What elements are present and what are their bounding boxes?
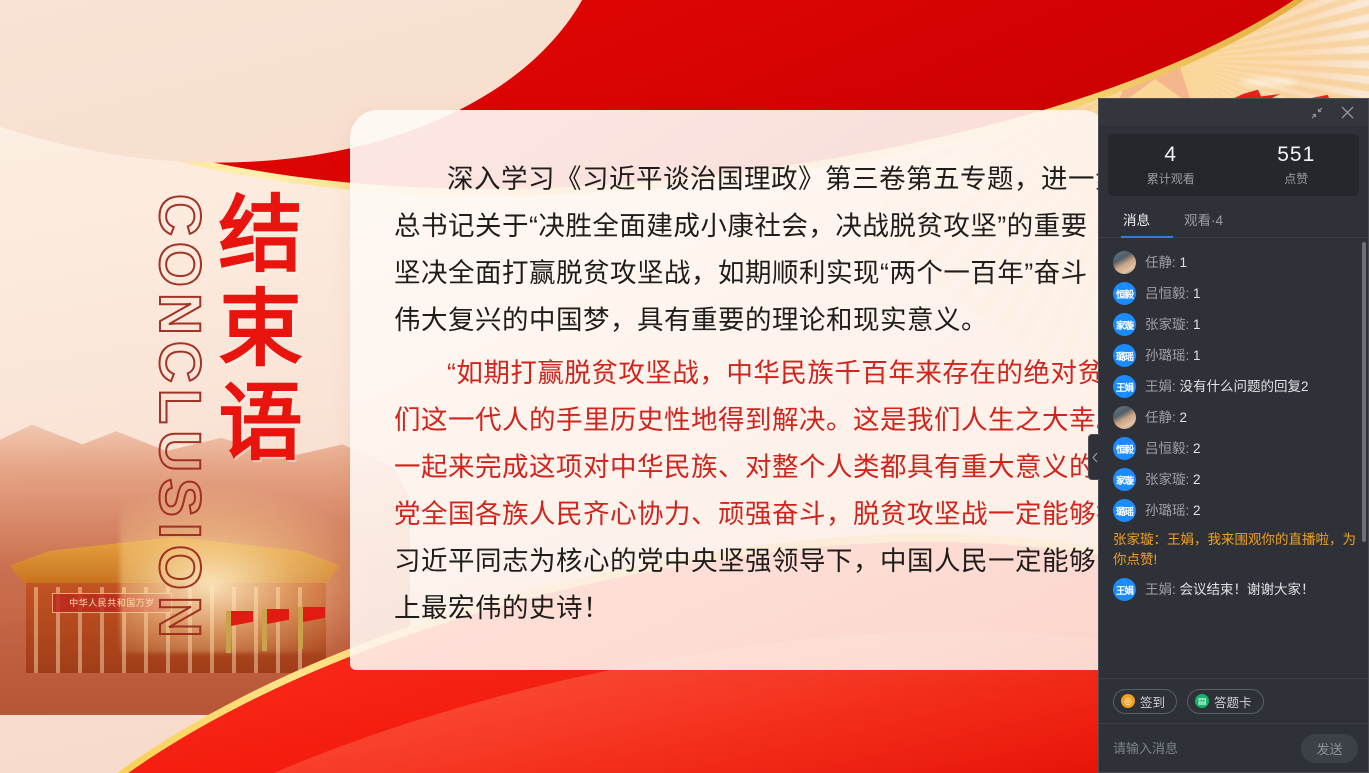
- check-in-label: 签到: [1140, 692, 1165, 711]
- paragraph-2-line: 党全国各族人民齐心协力、顽强奋斗，脱贫攻坚战一定能够打: [394, 491, 1100, 538]
- list-item: 家璇 张家璇: 2: [1099, 464, 1368, 495]
- avatar: 家璇: [1113, 313, 1136, 336]
- collapse-arrow-icon: [1310, 106, 1324, 120]
- system-message: 张家璇：王娟，我来围观你的直播啦，为你点赞!: [1099, 526, 1368, 574]
- message-text: 王娟: 会议结束！谢谢大家！: [1145, 580, 1315, 599]
- list-item: 王娟 王娟: 会议结束！谢谢大家！: [1099, 574, 1368, 605]
- panel-titlebar: [1099, 99, 1368, 126]
- list-item: 家璇 张家璇: 1: [1099, 309, 1368, 340]
- slide-body-text: 深入学习《习近平谈治国理政》第三卷第五专题，进一步 总书记关于“决胜全面建成小康…: [394, 156, 1100, 638]
- paragraph-2-line: 习近平同志为核心的党中央坚强领导下，中国人民一定能够写: [394, 538, 1100, 585]
- list-item: 任静: 1: [1099, 247, 1368, 278]
- avatar: 王娟: [1113, 578, 1136, 601]
- avatar: [1113, 251, 1136, 274]
- stats-bar: 4 累计观看 551 点赞: [1108, 134, 1359, 196]
- list-item: 恒毅 吕恒毅: 2: [1099, 433, 1368, 464]
- paragraph-2-line: “如期打赢脱贫攻坚战，中华民族千百年来存在的绝对贫: [394, 350, 1100, 397]
- screen: 中华人民共和国万岁 结束语 CONCLUSION 深入学习《习近平谈治国理政》第…: [0, 0, 1369, 773]
- panel-tabs: 消息 观看·4: [1099, 200, 1368, 238]
- list-item: 王娟 王娟: 没有什么问题的回复2: [1099, 371, 1368, 402]
- stat-value: 4: [1108, 143, 1234, 167]
- list-item: 恒毅 吕恒毅: 1: [1099, 278, 1368, 309]
- list-item: 璐瑶 孙璐瑶: 1: [1099, 340, 1368, 371]
- live-chat-panel: 4 累计观看 551 点赞 消息 观看·4 任静: 1 恒毅 吕恒毅: 1: [1098, 98, 1369, 773]
- paragraph-1-line: 坚决全面打赢脱贫攻坚战，如期顺利实现“两个一百年”奋斗: [394, 250, 1100, 297]
- avatar: 家璇: [1113, 468, 1136, 491]
- message-input[interactable]: [1113, 741, 1301, 756]
- close-button[interactable]: [1339, 104, 1356, 121]
- paragraph-2-line: 们这一代人的手里历史性地得到解决。这是我们人生之大幸。: [394, 397, 1100, 444]
- chevron-left-icon: [1092, 452, 1098, 463]
- message-text: 孙璐瑶: 2: [1145, 501, 1201, 520]
- stat-likes: 551 点赞: [1234, 143, 1360, 187]
- message-text: 孙璐瑶: 1: [1145, 346, 1201, 365]
- cloud-decoration: [1240, 78, 1298, 86]
- message-composer: 发送: [1099, 723, 1368, 772]
- paragraph-1-line: 深入学习《习近平谈治国理政》第三卷第五专题，进一步: [394, 156, 1100, 203]
- slide-text-card: 深入学习《习近平谈治国理政》第三卷第五专题，进一步 总书记关于“决胜全面建成小康…: [350, 110, 1110, 670]
- send-button[interactable]: 发送: [1301, 734, 1358, 763]
- stat-label: 点赞: [1234, 170, 1360, 187]
- avatar: 恒毅: [1113, 437, 1136, 460]
- message-text: 张家璇: 2: [1145, 470, 1201, 489]
- avatar: 王娟: [1113, 375, 1136, 398]
- message-text: 张家璇: 1: [1145, 315, 1201, 334]
- avatar: 恒毅: [1113, 282, 1136, 305]
- minimize-button[interactable]: [1308, 104, 1325, 121]
- message-text: 任静: 2: [1145, 408, 1187, 427]
- answer-card-button[interactable]: ▤ 答题卡: [1187, 689, 1264, 714]
- stat-value: 551: [1234, 143, 1360, 167]
- check-in-icon: ◎: [1121, 694, 1135, 708]
- avatar: 璐瑶: [1113, 344, 1136, 367]
- message-text: 吕恒毅: 2: [1145, 439, 1201, 458]
- avatar: 璐瑶: [1113, 499, 1136, 522]
- tab-viewers[interactable]: 观看·4: [1184, 209, 1223, 238]
- slide-vertical-title: 结束语 CONCLUSION: [150, 190, 296, 644]
- message-text: 王娟: 没有什么问题的回复2: [1145, 377, 1309, 396]
- slide-title-cn: 结束语: [212, 190, 296, 472]
- paragraph-2-line: 一起来完成这项对中华民族、对整个人类都具有重大意义的伟: [394, 444, 1100, 491]
- stat-label: 累计观看: [1108, 170, 1234, 187]
- message-text: 任静: 1: [1145, 253, 1187, 272]
- list-item: 任静: 2: [1099, 402, 1368, 433]
- flag-icon: [298, 607, 303, 649]
- tab-messages[interactable]: 消息: [1123, 209, 1150, 238]
- answer-card-icon: ▤: [1195, 694, 1209, 708]
- stat-total-views: 4 累计观看: [1108, 143, 1234, 187]
- message-text: 吕恒毅: 1: [1145, 284, 1201, 303]
- list-item: 璐瑶 孙璐瑶: 2: [1099, 495, 1368, 526]
- paragraph-2: “如期打赢脱贫攻坚战，中华民族千百年来存在的绝对贫 们这一代人的手里历史性地得到…: [394, 350, 1100, 632]
- action-bar: ◎ 签到 ▤ 答题卡: [1099, 678, 1368, 723]
- paragraph-1-line: 总书记关于“决胜全面建成小康社会，决战脱贫攻坚”的重要: [394, 203, 1100, 250]
- answer-card-label: 答题卡: [1214, 692, 1252, 711]
- close-icon: [1340, 105, 1355, 120]
- paragraph-2-line: 上最宏伟的史诗！: [394, 585, 1100, 632]
- message-list-scrollbar[interactable]: [1362, 242, 1366, 542]
- message-list[interactable]: 任静: 1 恒毅 吕恒毅: 1 家璇 张家璇: 1 璐瑶 孙璐瑶: 1 王娟 王…: [1099, 238, 1368, 678]
- paragraph-1: 深入学习《习近平谈治国理政》第三卷第五专题，进一步 总书记关于“决胜全面建成小康…: [394, 156, 1100, 344]
- slide-title-en: CONCLUSION: [150, 194, 208, 644]
- check-in-button[interactable]: ◎ 签到: [1113, 689, 1177, 714]
- paragraph-1-line: 伟大复兴的中国梦，具有重要的理论和现实意义。: [394, 297, 1100, 344]
- avatar: [1113, 406, 1136, 429]
